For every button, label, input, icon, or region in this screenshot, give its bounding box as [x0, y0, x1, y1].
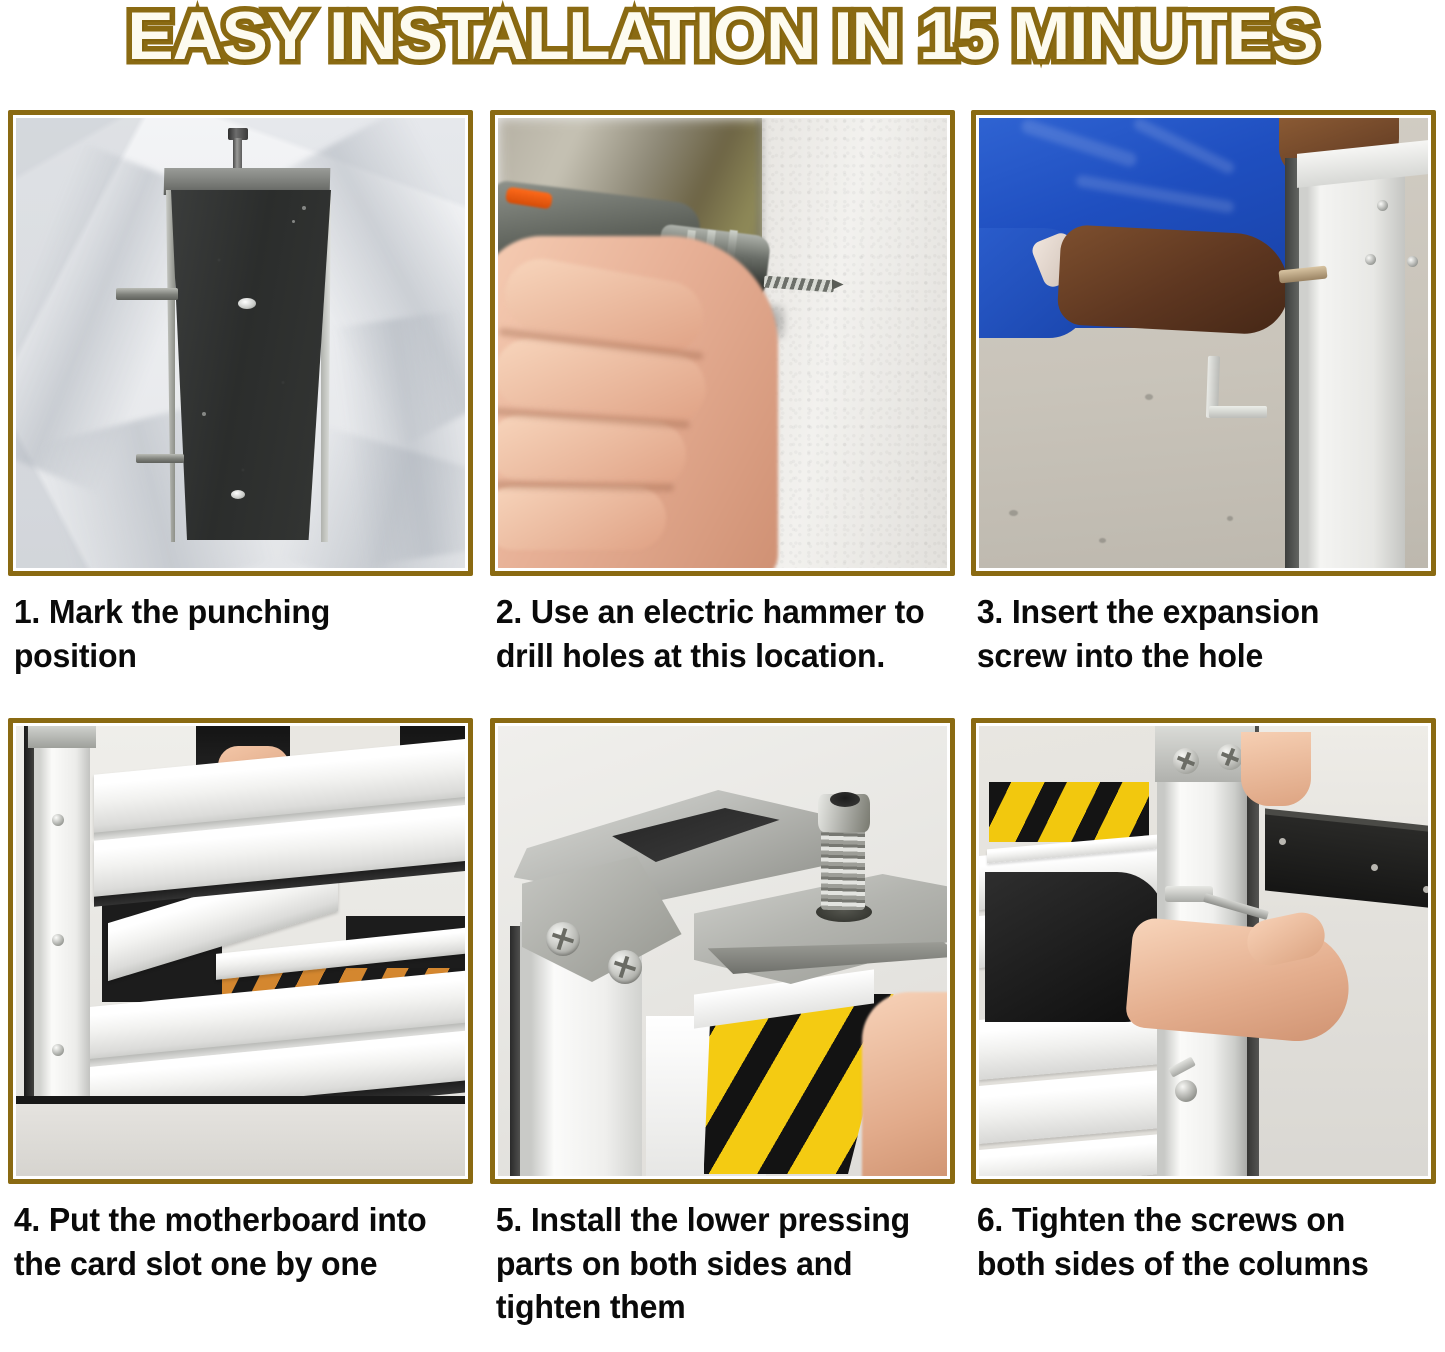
photo-drill-holes — [498, 118, 947, 568]
photo-frame-5 — [490, 718, 955, 1184]
steps-row-top: 1. Mark the punching position — [0, 110, 1445, 718]
step-caption-1: 1. Mark the punching position — [8, 576, 460, 718]
step-card-1: 1. Mark the punching position — [0, 110, 482, 718]
photo-install-pressing-parts — [498, 726, 947, 1176]
step-card-6: 6. Tighten the screws on both sides of t… — [963, 718, 1445, 1338]
step-caption-4: 4. Put the motherboard into the card slo… — [8, 1184, 460, 1338]
photo-insert-boards — [16, 726, 465, 1176]
step-caption-3: 3. Insert the expansion screw into the h… — [971, 576, 1423, 718]
photo-frame-3 — [971, 110, 1436, 576]
photo-frame-2 — [490, 110, 955, 576]
photo-frame-4 — [8, 718, 473, 1184]
step-caption-2: 2. Use an electric hammer to drill holes… — [490, 576, 942, 718]
photo-frame-1 — [8, 110, 473, 576]
step-caption-5: 5. Install the lower pressing parts on b… — [490, 1184, 942, 1338]
photo-frame-6 — [971, 718, 1436, 1184]
step-card-3: 3. Insert the expansion screw into the h… — [963, 110, 1445, 718]
step-card-2: 2. Use an electric hammer to drill holes… — [482, 110, 964, 718]
photo-mark-punching-position — [16, 118, 465, 568]
photo-tighten-screws — [979, 726, 1428, 1176]
photo-insert-expansion-screw — [979, 118, 1428, 568]
steps-grid: 1. Mark the punching position — [0, 110, 1445, 1338]
step-card-5: 5. Install the lower pressing parts on b… — [482, 718, 964, 1338]
header-banner: EASY INSTALLATION IN 15 MINUTES — [0, 0, 1445, 110]
steps-row-bottom: 4. Put the motherboard into the card slo… — [0, 718, 1445, 1338]
step-caption-6: 6. Tighten the screws on both sides of t… — [971, 1184, 1423, 1338]
step-card-4: 4. Put the motherboard into the card slo… — [0, 718, 482, 1338]
page-title: EASY INSTALLATION IN 15 MINUTES — [127, 2, 1317, 70]
